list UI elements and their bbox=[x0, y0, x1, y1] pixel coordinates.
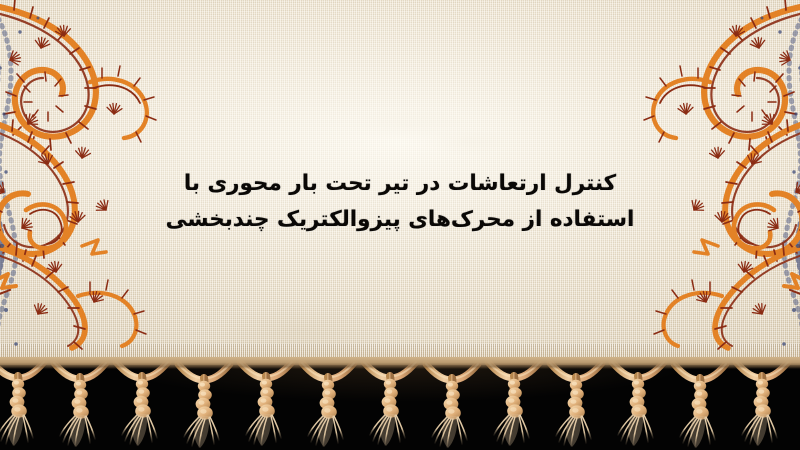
title-slide: کنترل ارتعاشات در تیر تحت بار محوری با ا… bbox=[0, 0, 800, 450]
title-line-2: استفاده از محرک‌های پیزوالکتریک چندبخشی bbox=[150, 202, 650, 238]
cloth-bottom-edge bbox=[0, 357, 800, 369]
slide-title: کنترل ارتعاشات در تیر تحت بار محوری با ا… bbox=[150, 166, 650, 238]
tassel-fringe bbox=[0, 360, 800, 450]
title-line-1: کنترل ارتعاشات در تیر تحت بار محوری با bbox=[150, 166, 650, 202]
